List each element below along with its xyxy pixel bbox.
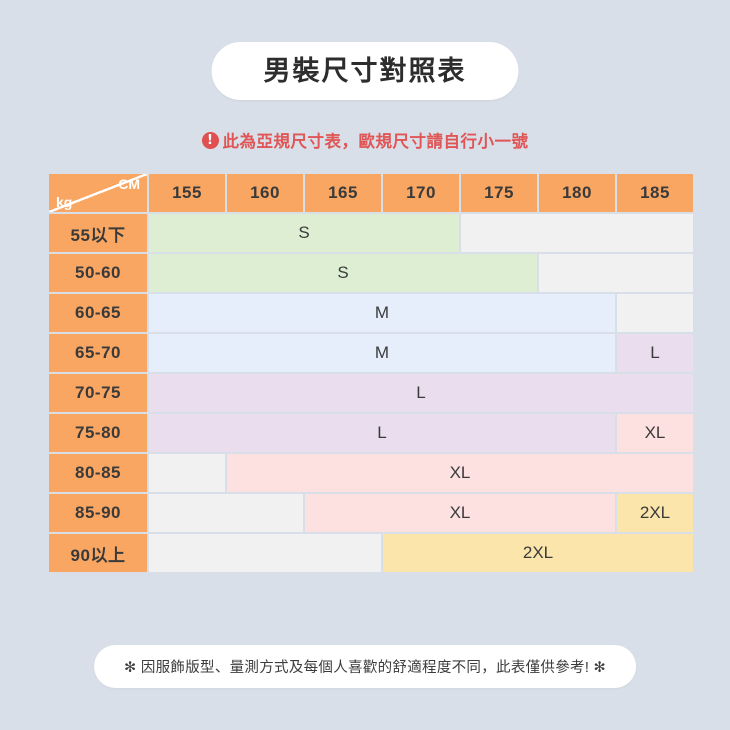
row-label-weight: 90以上: [49, 534, 147, 572]
page-title: 男裝尺寸對照表: [264, 55, 467, 87]
header-height-180: 180: [539, 174, 615, 212]
header-height-185: 185: [617, 174, 693, 212]
size-cell-L: L: [149, 414, 615, 452]
table-row: 70-75L: [49, 374, 693, 412]
size-cell-XL: XL: [305, 494, 615, 532]
size-cell-L: L: [149, 374, 693, 412]
row-label-weight: 80-85: [49, 454, 147, 492]
row-label-weight: 55以下: [49, 214, 147, 252]
size-cell-M: M: [149, 294, 615, 332]
warning-text: 此為亞規尺寸表，歐規尺寸請自行小一號: [223, 128, 529, 152]
size-cell-M: M: [149, 334, 615, 372]
table-header-row: CMkg155160165170175180185: [49, 174, 693, 212]
size-chart-table: CMkg15516016517017518018555以下S50-60S60-6…: [47, 172, 695, 574]
row-label-weight: 70-75: [49, 374, 147, 412]
size-cell-S: S: [149, 254, 537, 292]
footer-note-pill: ✻ 因服飾版型、量測方式及每個人喜歡的舒適程度不同，此表僅供參考! ✻: [94, 645, 636, 688]
table-row: 85-90XL2XL: [49, 494, 693, 532]
size-cell-empty: [149, 534, 381, 572]
size-cell-XL: XL: [227, 454, 693, 492]
table-row: 50-60S: [49, 254, 693, 292]
table-row: 75-80LXL: [49, 414, 693, 452]
size-cell-L: L: [617, 334, 693, 372]
row-label-weight: 75-80: [49, 414, 147, 452]
row-label-weight: 65-70: [49, 334, 147, 372]
row-label-weight: 85-90: [49, 494, 147, 532]
size-cell-empty: [461, 214, 693, 252]
size-cell-S: S: [149, 214, 459, 252]
table-row: 90以上2XL: [49, 534, 693, 572]
warning-notice: ! 此為亞規尺寸表，歐規尺寸請自行小一號: [0, 128, 730, 152]
size-cell-empty: [539, 254, 693, 292]
table-row: 80-85XL: [49, 454, 693, 492]
size-cell-empty: [149, 494, 303, 532]
header-height-160: 160: [227, 174, 303, 212]
header-height-165: 165: [305, 174, 381, 212]
header-height-155: 155: [149, 174, 225, 212]
table-row: 55以下S: [49, 214, 693, 252]
header-corner-cell: CMkg: [49, 174, 147, 212]
size-cell-empty: [149, 454, 225, 492]
corner-kg-label: kg: [56, 194, 72, 210]
page-title-pill: 男裝尺寸對照表: [212, 42, 519, 100]
table-row: 60-65M: [49, 294, 693, 332]
table-body: CMkg15516016517017518018555以下S50-60S60-6…: [49, 174, 693, 572]
corner-cm-label: CM: [118, 176, 140, 192]
header-height-175: 175: [461, 174, 537, 212]
footer-note: ✻ 因服飾版型、量測方式及每個人喜歡的舒適程度不同，此表僅供參考! ✻: [124, 656, 606, 677]
row-label-weight: 60-65: [49, 294, 147, 332]
size-cell-XL: XL: [617, 414, 693, 452]
size-cell-2XL: 2XL: [617, 494, 693, 532]
row-label-weight: 50-60: [49, 254, 147, 292]
header-height-170: 170: [383, 174, 459, 212]
size-cell-empty: [617, 294, 693, 332]
exclamation-circle-icon: !: [202, 132, 219, 149]
size-cell-2XL: 2XL: [383, 534, 693, 572]
table-row: 65-70ML: [49, 334, 693, 372]
